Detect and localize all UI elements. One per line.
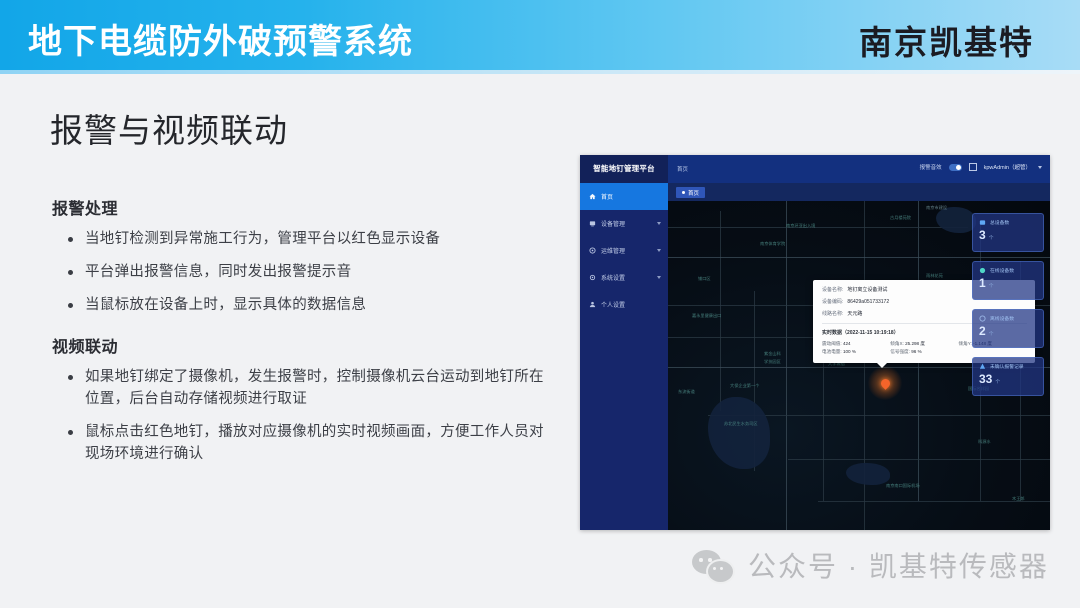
list-item-text: 当鼠标放在设备上时，显示具体的数据信息: [85, 294, 366, 316]
banner-title: 地下电缆防外破预警系统: [28, 14, 413, 63]
page-banner: 地下电缆防外破预警系统 南京凯基特: [0, 0, 1080, 70]
card-label: 总设备数: [990, 219, 1009, 226]
metric-cell: 信号强度: 96 %: [890, 348, 958, 356]
page-title: 报警与视频联动: [50, 104, 288, 152]
list-item: 鼠标点击红色地钉，播放对应摄像机的实时视频画面，方便工作人员对现场环境进行确认: [52, 421, 552, 465]
online-icon: [979, 267, 986, 274]
map-road: [788, 459, 1050, 460]
map-label: 木王郎: [1012, 496, 1025, 502]
map-label: 嘉永里健康出口: [692, 313, 721, 319]
list-item: 平台弹出报警信息，同时发出报警提示音: [52, 261, 552, 283]
device-icon: [589, 220, 596, 227]
list-item: 如果地钉绑定了摄像机，发生报警时，控制摄像机云台运动到地钉所在位置，后台自动存储…: [52, 366, 552, 410]
sidebar-item-label: 个人设置: [601, 300, 625, 309]
map-label: 科源水: [978, 439, 991, 445]
card-value: 1个: [979, 277, 1037, 293]
banner-underline: [0, 70, 1080, 74]
map-water: [846, 463, 890, 485]
bullet-dot: [68, 303, 73, 308]
section-heading: 报警处理: [52, 195, 552, 219]
user-menu-label[interactable]: kpwAdmin（超管）: [984, 163, 1031, 171]
chevron-down-icon[interactable]: [1038, 166, 1042, 169]
popup-value: 地钉离立设备测试: [847, 287, 887, 294]
bullet-dot: [68, 375, 73, 380]
metric-value: 25.298 度: [905, 341, 925, 346]
map-label: 铺口区: [698, 276, 711, 282]
stat-card-unconfirmed-alarms[interactable]: 未确认报警记录 33个: [972, 357, 1044, 396]
map-label: 苏北民生水务司区: [724, 421, 758, 427]
breadcrumb: 首页: [677, 165, 688, 173]
map-road: [786, 201, 787, 530]
stat-card-total-devices[interactable]: 总设备数 3个: [972, 213, 1044, 252]
offline-icon: [979, 315, 986, 322]
banner-brand: 南京凯基特: [859, 16, 1034, 64]
map-road: [668, 227, 968, 228]
chevron-down-icon: [657, 249, 661, 252]
tab-label: 首页: [688, 189, 699, 197]
metric-key: 倾角X:: [890, 341, 904, 346]
stat-card-list: 总设备数 3个 在线设备数 1个 离线设备数 2个: [972, 213, 1044, 405]
metric-cell: 倾角X: 25.298 度: [890, 340, 958, 348]
popup-key: 线路名称:: [822, 311, 843, 318]
chevron-down-icon: [657, 222, 661, 225]
topbar-right-group: 报警音效 kpwAdmin（超管）: [920, 163, 1042, 171]
sidebar-item-system[interactable]: 系统设置: [580, 264, 668, 291]
ops-icon: [589, 247, 596, 254]
metric-key: 信号强度:: [890, 349, 910, 354]
card-label: 在线设备数: [990, 267, 1014, 274]
tab-home[interactable]: 首页: [676, 187, 705, 198]
card-label: 未确认报警记录: [990, 363, 1024, 370]
section-alarm-handling: 报警处理 当地钉检测到异常施工行为，管理平台以红色显示设备 平台弹出报警信息，同…: [52, 195, 552, 327]
app-screenshot: 智能地钉管理平台 首页 设备管理 运维管理 系统设置 个人设置 首页: [580, 155, 1050, 530]
card-unit: 个: [989, 284, 994, 289]
metric-key: 震动阈值:: [822, 341, 842, 346]
card-value: 3个: [979, 229, 1037, 245]
section-heading: 视频联动: [52, 333, 552, 357]
app-tab-strip: 首页: [668, 183, 1050, 201]
wechat-label: 公众号 · 凯基特传感器: [748, 545, 1049, 585]
sidebar-item-profile[interactable]: 个人设置: [580, 291, 668, 318]
list-item-text: 平台弹出报警信息，同时发出报警提示音: [85, 261, 351, 283]
wechat-icon: [692, 550, 734, 580]
sidebar-item-ops[interactable]: 运维管理: [580, 237, 668, 264]
sidebar-item-label: 系统设置: [601, 273, 625, 282]
sidebar-item-label: 运维管理: [601, 246, 625, 255]
map-label: 南京市建设: [926, 205, 947, 211]
sidebar-item-device[interactable]: 设备管理: [580, 210, 668, 237]
card-value: 33个: [979, 373, 1037, 389]
bullet-dot: [68, 430, 73, 435]
app-brand: 智能地钉管理平台: [580, 155, 668, 183]
list-item: 当鼠标放在设备上时，显示具体的数据信息: [52, 294, 552, 316]
alarm-sound-toggle[interactable]: [949, 164, 962, 171]
map-label: 学技园区: [764, 359, 781, 365]
user-icon: [589, 301, 596, 308]
tab-dot-icon: [682, 191, 685, 194]
card-header: 在线设备数: [979, 267, 1037, 274]
card-number: 1: [979, 276, 986, 290]
home-icon: [589, 193, 596, 200]
metric-cell: 震动阈值: 424: [822, 340, 890, 348]
card-label: 离线设备数: [990, 315, 1014, 322]
card-value: 2个: [979, 325, 1037, 341]
card-number: 3: [979, 228, 986, 242]
alarm-icon: [979, 363, 986, 370]
metric-cell: 电池电量: 100 %: [822, 348, 890, 356]
map-water: [708, 397, 770, 469]
map-road: [720, 211, 721, 411]
popup-value: 天元路: [847, 311, 862, 318]
metric-key: 倾角Y:: [959, 341, 972, 346]
card-number: 2: [979, 324, 986, 338]
metric-value: 96 %: [911, 349, 921, 354]
map-label: 南京南口国际机场: [886, 483, 920, 489]
stat-card-online-devices[interactable]: 在线设备数 1个: [972, 261, 1044, 300]
section-video-linkage: 视频联动 如果地钉绑定了摄像机，发生报警时，控制摄像机云台运动到地钉所在位置，后…: [52, 333, 552, 476]
bullet-dot: [68, 237, 73, 242]
app-sidebar: 智能地钉管理平台 首页 设备管理 运维管理 系统设置 个人设置: [580, 155, 668, 530]
map-label: 大保企业第一个: [730, 383, 759, 389]
card-number: 33: [979, 372, 992, 386]
card-header: 总设备数: [979, 219, 1037, 226]
map-canvas[interactable]: 南京环亚出入境 古月楼苑院 南京市建设 南京体育学院 铺口区 雨林花苑 嘉永里健…: [668, 201, 1050, 530]
sidebar-item-home[interactable]: 首页: [580, 183, 668, 210]
list-item-text: 鼠标点击红色地钉，播放对应摄像机的实时视频画面，方便工作人员对现场环境进行确认: [85, 421, 552, 465]
list-item-text: 当地钉检测到异常施工行为，管理平台以红色显示设备: [85, 228, 440, 250]
metric-value: 100 %: [843, 349, 856, 354]
map-label: 雨林花苑: [926, 273, 943, 279]
popup-key: 设备编码:: [822, 299, 843, 306]
stat-card-offline-devices[interactable]: 离线设备数 2个: [972, 309, 1044, 348]
alarm-sound-label: 报警音效: [920, 163, 942, 171]
card-header: 未确认报警记录: [979, 363, 1037, 370]
bullet-dot: [68, 270, 73, 275]
card-unit: 个: [989, 236, 994, 241]
map-label: 紫金山科: [764, 351, 781, 357]
gear-icon: [589, 274, 596, 281]
app-topbar: 首页 报警音效 kpwAdmin（超管）: [668, 155, 1050, 183]
card-header: 离线设备数: [979, 315, 1037, 322]
list-item: 当地钉检测到异常施工行为，管理平台以红色显示设备: [52, 228, 552, 250]
map-label: 东流街道: [678, 389, 695, 395]
fullscreen-icon[interactable]: [969, 163, 977, 171]
metric-value: 424: [843, 341, 851, 346]
popup-value: 86429a051733172: [847, 299, 889, 306]
map-label: 南京环亚出入境: [786, 223, 815, 229]
chevron-down-icon: [657, 276, 661, 279]
popup-key: 设备名称:: [822, 287, 843, 294]
card-unit: 个: [995, 380, 1000, 385]
device-total-icon: [979, 219, 986, 226]
card-unit: 个: [989, 332, 994, 337]
sidebar-item-label: 首页: [601, 192, 613, 201]
map-label: 南京体育学院: [760, 241, 785, 247]
metric-key: 电池电量:: [822, 349, 842, 354]
map-label: 古月楼苑院: [890, 215, 911, 221]
wechat-footer: 公众号 · 凯基特传感器: [692, 545, 1049, 585]
sidebar-item-label: 设备管理: [601, 219, 625, 228]
list-item-text: 如果地钉绑定了摄像机，发生报警时，控制摄像机云台运动到地钉所在位置，后台自动存储…: [85, 366, 552, 410]
